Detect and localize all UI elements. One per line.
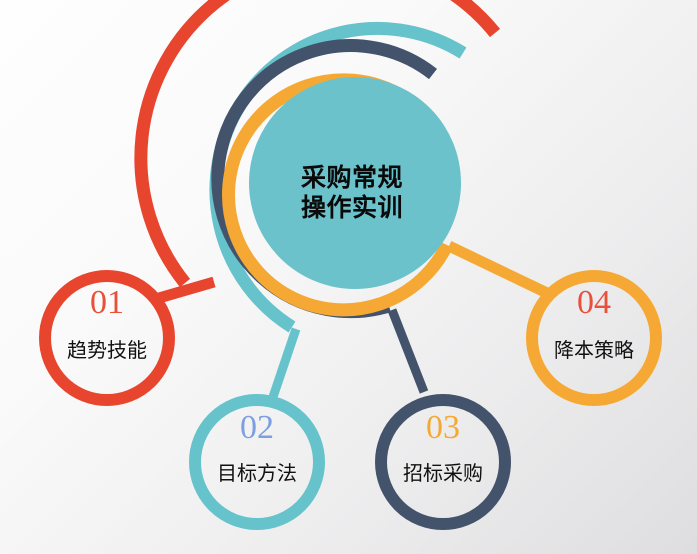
node-03-number: 03 xyxy=(426,409,460,446)
center-title-line-2: 操作实训 xyxy=(301,193,403,222)
connector-navy-line xyxy=(392,310,424,392)
node-03[interactable]: 03 招标采购 xyxy=(381,400,505,524)
node-02-label: 目标方法 xyxy=(217,462,297,485)
node-01-number: 01 xyxy=(90,284,124,321)
center-hub[interactable]: 采购常规 操作实训 xyxy=(249,77,461,289)
node-02-number: 02 xyxy=(240,409,274,446)
diagram-canvas: 采购常规 操作实训 01 趋势技能 02 目标方法 03 招标采购 04 降本策… xyxy=(0,0,697,554)
node-02[interactable]: 02 目标方法 xyxy=(195,400,319,524)
node-04-label: 降本策略 xyxy=(554,339,634,362)
infographic-root: 采购常规 操作实训 01 趋势技能 02 目标方法 03 招标采购 04 降本策… xyxy=(0,0,697,554)
node-04-number: 04 xyxy=(577,284,611,321)
node-03-label: 招标采购 xyxy=(403,462,483,485)
center-title-line-1: 采购常规 xyxy=(301,163,403,192)
connector-orange-line xyxy=(449,246,547,293)
node-04[interactable]: 04 降本策略 xyxy=(532,276,656,400)
node-01[interactable]: 01 趋势技能 xyxy=(45,276,169,400)
node-01-label: 趋势技能 xyxy=(67,339,147,362)
connector-teal-line xyxy=(272,329,296,400)
